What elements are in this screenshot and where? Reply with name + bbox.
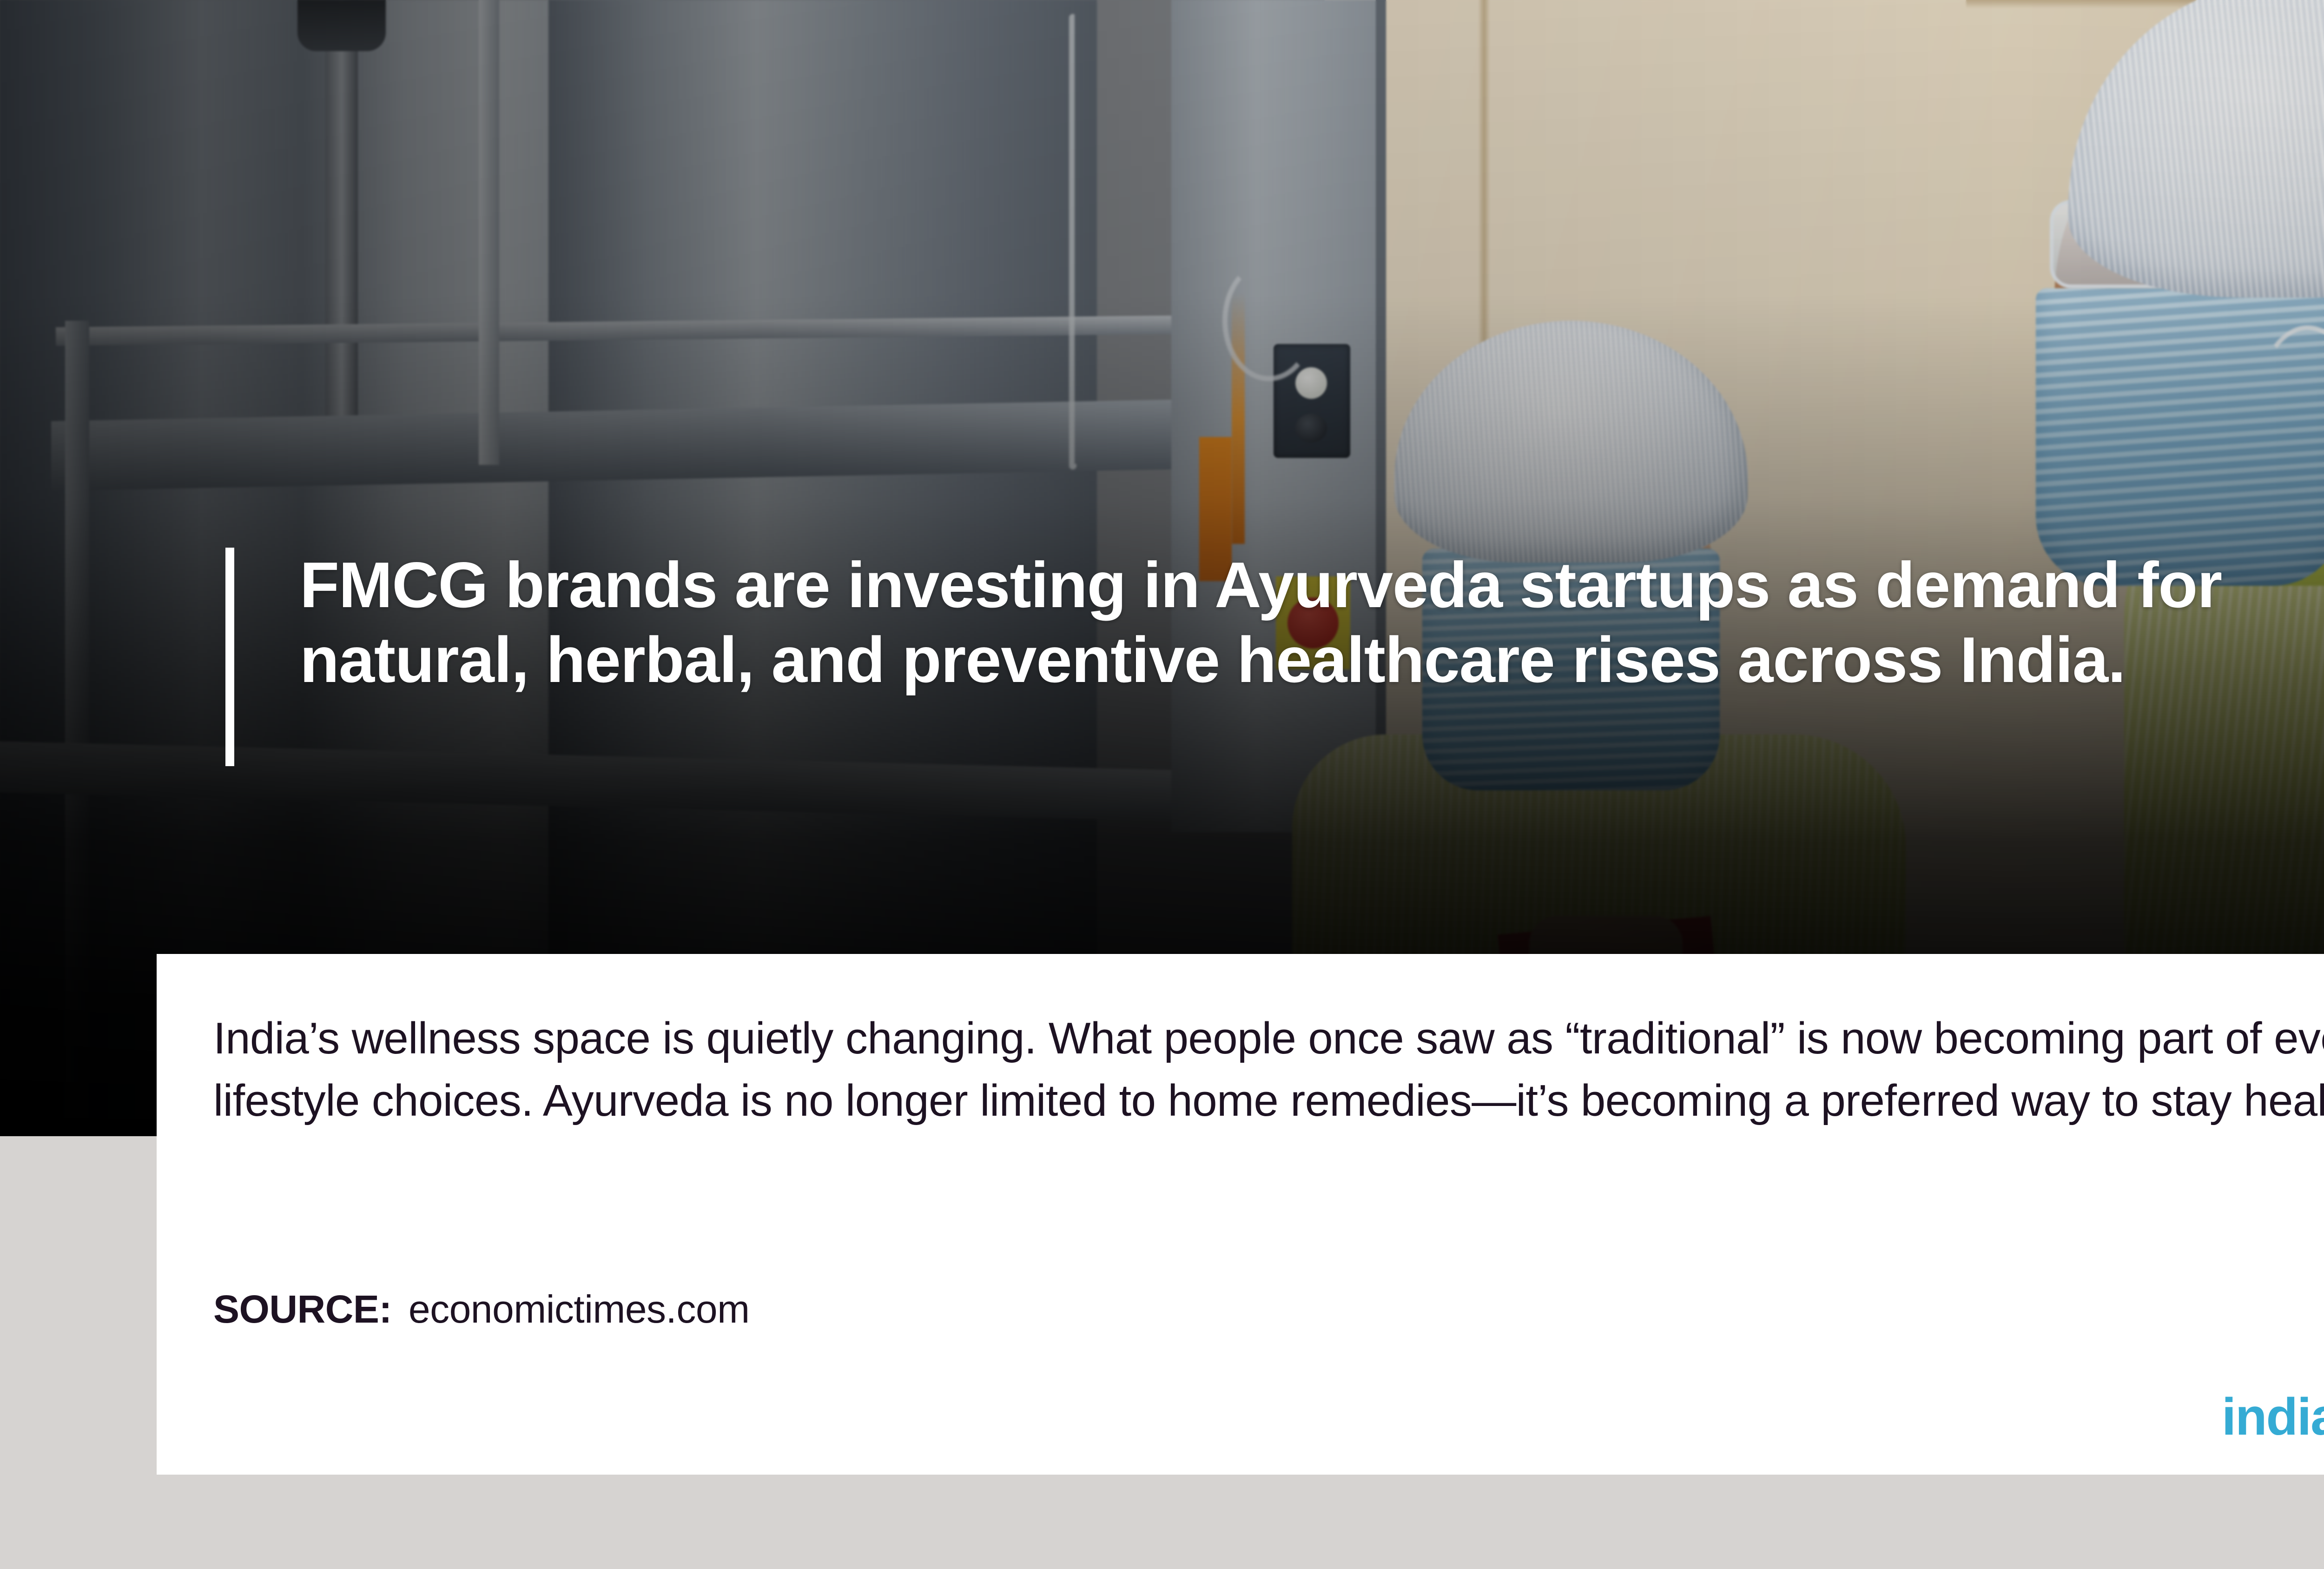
machine-cable bbox=[1069, 14, 1076, 470]
headline-block: FMCG brands are investing in Ayurveda st… bbox=[225, 548, 2317, 766]
tank-frame-post bbox=[65, 321, 89, 1136]
accent-bar bbox=[225, 548, 234, 766]
source-value[interactable]: economictimes.com bbox=[409, 1287, 750, 1332]
source-label: SOURCE: bbox=[213, 1287, 392, 1332]
brand-logo[interactable]: indianvaidyas R bbox=[2222, 1229, 2324, 1448]
source-row: SOURCE: economictimes.com bbox=[213, 1287, 750, 1332]
tank-frame-post-2 bbox=[479, 0, 499, 465]
summary-body-text: India’s wellness space is quietly changi… bbox=[213, 1007, 2324, 1132]
summary-card-inner: India’s wellness space is quietly changi… bbox=[157, 954, 2324, 1475]
summary-card: India’s wellness space is quietly changi… bbox=[157, 954, 2324, 1475]
page-title: FMCG brands are investing in Ayurveda st… bbox=[300, 548, 2298, 766]
tank-pipe bbox=[325, 0, 358, 418]
machine-cable-loop bbox=[1222, 260, 1315, 381]
stop-button-icon bbox=[1295, 414, 1327, 443]
tank-pipe-cap bbox=[297, 0, 386, 51]
logo-wordmark: indianvaidyas bbox=[2222, 1391, 2324, 1443]
start-button-icon bbox=[1295, 367, 1327, 399]
